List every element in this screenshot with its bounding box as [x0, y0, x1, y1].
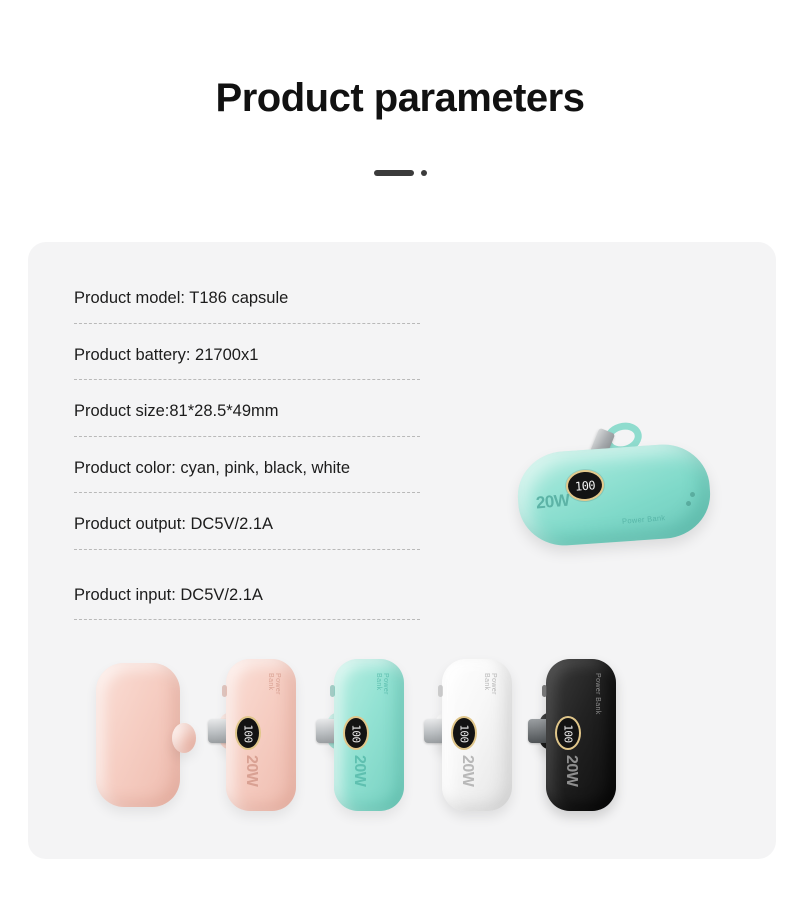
- variant-pink-front: 100 20W Power Bank: [208, 651, 318, 821]
- power-button-icon: [222, 685, 227, 697]
- spec-row: Product model: T186 capsule: [74, 290, 422, 324]
- spec-divider: [74, 379, 420, 380]
- spec-row: Product battery: 21700x1: [74, 347, 422, 381]
- spacer: [74, 493, 422, 516]
- spacer: [74, 550, 422, 587]
- hero-display-value: 100: [574, 478, 595, 493]
- divider-dot: [421, 170, 427, 176]
- display-value: 100: [562, 724, 575, 742]
- spec-list: Product model: T186 capsule Product batt…: [74, 290, 422, 620]
- spec-label: Product color: cyan, pink, black, white: [74, 460, 422, 477]
- spacer: [74, 380, 422, 403]
- hero-product-image: 100 20W Power Bank: [490, 402, 730, 582]
- power-button-icon: [542, 685, 547, 697]
- spec-divider: [74, 549, 420, 550]
- brand-label: Power Bank: [375, 673, 389, 710]
- color-variant-lineup: 100 20W Power Bank 100 20W Power Bank: [28, 651, 776, 846]
- device-knob: [172, 723, 196, 753]
- spec-label: Product size:81*28.5*49mm: [74, 403, 422, 420]
- spec-divider: [74, 323, 420, 324]
- display-value: 100: [350, 724, 363, 742]
- battery-display: 100: [451, 716, 477, 750]
- variant-cyan-front: 100 20W Power Bank: [316, 651, 426, 821]
- device-body: [96, 663, 180, 807]
- wattage-label: 20W: [562, 755, 580, 786]
- variant-white-front: 100 20W Power Bank: [424, 651, 534, 821]
- battery-display: 100: [235, 716, 261, 750]
- spec-divider: [74, 492, 420, 493]
- spec-label: Product battery: 21700x1: [74, 347, 422, 364]
- spec-row: Product input: DC5V/2.1A: [74, 587, 422, 621]
- wattage-label: 20W: [458, 755, 476, 786]
- page-title: Product parameters: [0, 76, 800, 121]
- spec-panel: Product model: T186 capsule Product batt…: [28, 242, 776, 859]
- wattage-label: 20W: [350, 755, 368, 786]
- spec-label: Product output: DC5V/2.1A: [74, 516, 422, 533]
- spec-divider: [74, 619, 420, 620]
- divider-bar: [374, 170, 414, 176]
- spec-label: Product model: T186 capsule: [74, 290, 422, 307]
- power-button-icon: [438, 685, 443, 697]
- brand-label: Power Bank: [267, 673, 281, 710]
- power-button-icon: [330, 685, 335, 697]
- brand-label: Power Bank: [594, 673, 601, 715]
- spec-label: Product input: DC5V/2.1A: [74, 587, 422, 604]
- variant-black-front: 100 20W Power Bank: [528, 651, 648, 821]
- spec-row: Product size:81*28.5*49mm: [74, 403, 422, 437]
- display-value: 100: [458, 724, 471, 742]
- battery-display: 100: [555, 716, 581, 750]
- spec-divider: [74, 436, 420, 437]
- variant-pink-back: [84, 651, 204, 821]
- spacer: [74, 437, 422, 460]
- product-parameters-page: Product parameters Product model: T186 c…: [0, 0, 800, 914]
- spec-row: Product color: cyan, pink, black, white: [74, 460, 422, 494]
- hero-wattage-label: 20W: [535, 491, 570, 514]
- wattage-label: 20W: [242, 755, 260, 786]
- spec-row: Product output: DC5V/2.1A: [74, 516, 422, 550]
- brand-label: Power Bank: [483, 673, 497, 710]
- battery-display: 100: [343, 716, 369, 750]
- spacer: [74, 324, 422, 347]
- display-value: 100: [242, 724, 255, 742]
- dash-dot-divider-icon: [0, 170, 800, 176]
